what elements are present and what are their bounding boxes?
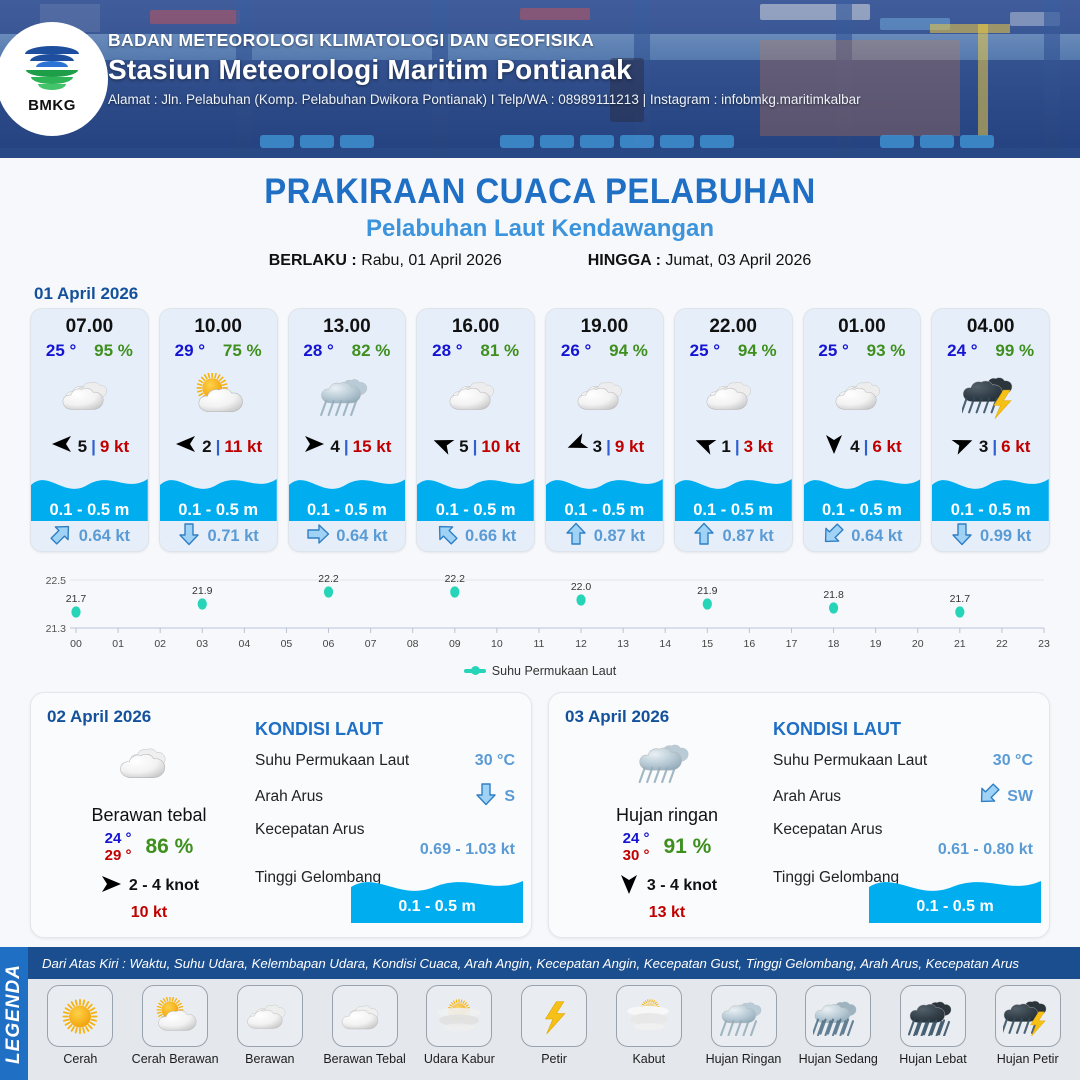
header-chairs [0,132,1080,148]
panel-temp-min: 24 ° [105,830,132,847]
bmkg-logo-text: BMKG [28,97,76,114]
wind-speed: 3 [593,437,602,457]
page-header: BMKG BADAN METEOROLOGI KLIMATOLOGI DAN G… [0,0,1080,158]
forecast-card: 22.00 25 ° 94 % [674,308,793,552]
legend-icon-udara-kabur [426,985,492,1047]
current-speed-value: 0.61 - 0.80 kt [773,841,1033,859]
svg-text:00: 00 [70,638,82,650]
wave-height: 0.1 - 0.5 m [31,501,148,520]
wave-section: 0.1 - 0.5 m 0.87 kt [675,473,792,551]
page-subtitle: Pelabuhan Laut Kendawangan [0,215,1080,243]
panel-wave-graphic: 0.1 - 0.5 m [869,867,1041,923]
legend-icon-berawan-tebal [332,985,398,1047]
current-row: 0.71 kt [160,521,277,551]
svg-text:17: 17 [786,638,798,650]
forecast-card: 13.00 28 ° 82 % [288,308,407,552]
berlaku-value: Rabu, 01 April 2026 [361,252,502,269]
gust-speed: 6 kt [872,437,901,457]
wind-separator: | [735,437,740,457]
wind-separator: | [216,437,221,457]
card-humidity: 94 % [609,341,648,361]
card-temperature: 28 ° [432,341,462,361]
panel-date: 02 April 2026 [47,707,251,727]
legend-side-text: LEGENDA [3,964,25,1064]
weather-icon-berawan-tebal [47,731,251,793]
panel-wind: 2 - 4 knot [47,873,251,900]
svg-text:21.3: 21.3 [46,623,67,635]
card-time: 22.00 [675,316,792,338]
wind-separator: | [91,437,96,457]
weather-icon-berawan [546,365,663,427]
svg-text:02: 02 [154,638,166,650]
wind-separator: | [606,437,611,457]
current-speed: 0.66 kt [465,527,516,546]
card-time: 04.00 [932,316,1049,338]
station-name: Stasiun Meteorologi Maritim Pontianak [108,54,1068,86]
wind-direction-icon [822,433,846,460]
wave-height: 0.1 - 0.5 m [675,501,792,520]
current-dir-label: Arah Arus [255,788,323,806]
card-temperature: 26 ° [561,341,591,361]
svg-text:22.0: 22.0 [571,581,592,593]
wind-direction-icon [693,433,717,460]
svg-text:21.8: 21.8 [823,589,844,601]
daily-forecast-panel: 02 April 2026 Beraw [30,692,532,938]
wave-height: 0.1 - 0.5 m [160,501,277,520]
panel-right: KONDISI LAUT Suhu Permukaan Laut 30 °C A… [769,693,1049,937]
wind-speed: 4 [850,437,859,457]
title-block: PRAKIRAAN CUACA PELABUHAN Pelabuhan Laut… [0,172,1080,270]
current-dir-value: S [504,788,515,806]
current-dir-label: Arah Arus [773,788,841,806]
legend-item: Petir [508,985,601,1066]
panel-gust: 13 kt [565,904,769,922]
card-humidity: 99 % [995,341,1034,361]
svg-text:22.2: 22.2 [318,573,339,585]
current-speed: 0.87 kt [722,527,773,546]
gust-speed: 15 kt [353,437,392,457]
bmkg-logo-mark [21,44,83,96]
current-direction-icon [977,782,1001,811]
panel-temp-range: 24 ° 30 ° [623,830,650,865]
card-humidity: 94 % [738,341,777,361]
validity-row: BERLAKU : Rabu, 01 April 2026 HINGGA : J… [0,252,1080,270]
current-row: 0.64 kt [31,521,148,551]
card-humidity: 93 % [867,341,906,361]
svg-text:01: 01 [112,638,124,650]
weather-icon-berawan [675,365,792,427]
hingga-group: HINGGA : Jumat, 03 April 2026 [588,252,812,270]
svg-text:12: 12 [575,638,587,650]
current-speed: 0.64 kt [851,527,902,546]
panel-wind: 3 - 4 knot [565,873,769,900]
panel-wind-range: 3 - 4 knot [647,877,717,895]
sst-value: 30 °C [993,752,1033,770]
hingga-label: HINGGA : [588,252,661,269]
chart-legend: Suhu Permukaan Laut [0,664,1080,678]
legend-item-label: Kabut [632,1052,665,1066]
svg-text:07: 07 [365,638,377,650]
svg-text:05: 05 [281,638,293,650]
svg-text:22.2: 22.2 [445,573,466,585]
wind-separator: | [864,437,869,457]
svg-text:16: 16 [744,638,756,650]
forecast-card: 04.00 24 ° 99 % [931,308,1050,552]
wind-speed: 1 [721,437,730,457]
current-direction-icon [950,522,974,551]
panel-temp-range: 24 ° 29 ° [105,830,132,865]
legend-icon-hujan-ringan [711,985,777,1047]
forecast-card: 01.00 25 ° 93 % [803,308,922,552]
legend-item: Udara Kabur [413,985,506,1066]
card-temperature: 24 ° [947,341,977,361]
legend-item-list: Cerah Cerah Berawan [28,979,1080,1080]
current-direction-icon [435,522,459,551]
svg-text:19: 19 [870,638,882,650]
current-row: 0.64 kt [289,521,406,551]
wind-separator: | [473,437,478,457]
forecast-card: 10.00 29 ° 75 % [159,308,278,552]
weather-icon-hujan-ringan [289,365,406,427]
berlaku-label: BERLAKU : [269,252,357,269]
svg-text:22.5: 22.5 [46,575,67,587]
current-direction-icon [49,522,73,551]
gust-speed: 10 kt [481,437,520,457]
wind-separator: | [992,437,997,457]
svg-text:21.9: 21.9 [192,585,213,597]
current-direction-icon [821,522,845,551]
organization-name: BADAN METEOROLOGI KLIMATOLOGI DAN GEOFIS… [108,30,1068,51]
current-direction-icon [177,522,201,551]
legend-item: Berawan Tebal [318,985,411,1066]
wind-speed: 3 [979,437,988,457]
svg-text:18: 18 [828,638,840,650]
wind-direction-icon [302,433,326,460]
wave-section: 0.1 - 0.5 m 0.99 kt [932,473,1049,551]
wind-speed: 5 [78,437,87,457]
sea-condition-title: KONDISI LAUT [773,719,1033,740]
svg-text:13: 13 [617,638,629,650]
wave-height: 0.1 - 0.5 m [417,501,534,520]
legend-icon-cerah [47,985,113,1047]
wind-direction-icon [431,433,455,460]
card-time: 07.00 [31,316,148,338]
current-direction-icon [474,782,498,811]
weather-icon-cerah-berawan [160,365,277,427]
card-time: 13.00 [289,316,406,338]
weather-icon-berawan [31,365,148,427]
weather-icon-hujan-petir [932,365,1049,427]
legend-item-label: Cerah [63,1052,97,1066]
legend-icon-hujan-lebat [900,985,966,1047]
sst-label: Suhu Permukaan Laut [255,752,409,770]
address-line: Alamat : Jln. Pelabuhan (Komp. Pelabuhan… [108,92,1068,107]
gust-speed: 11 kt [224,437,262,457]
legend-item: Hujan Lebat [887,985,980,1066]
current-row: 0.64 kt [804,521,921,551]
legend-icon-petir [521,985,587,1047]
legend-item-label: Hujan Sedang [799,1052,878,1066]
forecast-card: 16.00 28 ° 81 % [416,308,535,552]
sea-condition-title: KONDISI LAUT [255,719,515,740]
wave-section: 0.1 - 0.5 m 0.66 kt [417,473,534,551]
current-row: 0.87 kt [675,521,792,551]
card-time: 19.00 [546,316,663,338]
svg-text:23: 23 [1038,638,1050,650]
legend-item: Hujan Sedang [792,985,885,1066]
card-temperature: 28 ° [303,341,333,361]
legend-item-label: Hujan Petir [997,1052,1059,1066]
current-speed: 0.64 kt [336,527,387,546]
page-title: PRAKIRAAN CUACA PELABUHAN [32,172,1047,212]
panel-wave-height: 0.1 - 0.5 m [351,898,523,916]
current-dir-value: SW [1007,788,1033,806]
current-direction-icon [564,522,588,551]
legend-item-label: Cerah Berawan [132,1052,219,1066]
card-time: 01.00 [804,316,921,338]
wave-section: 0.1 - 0.5 m 0.71 kt [160,473,277,551]
wind-speed: 5 [459,437,468,457]
current-direction-icon [306,522,330,551]
wind-separator: | [344,437,349,457]
current-direction-icon [692,522,716,551]
svg-text:15: 15 [701,638,713,650]
forecast-card: 19.00 26 ° 94 % [545,308,664,552]
card-humidity: 75 % [223,341,262,361]
svg-text:03: 03 [196,638,208,650]
legend-item: Kabut [602,985,695,1066]
weather-icon-berawan [417,365,534,427]
forecast-card: 07.00 25 ° 95 % [30,308,149,552]
card-temperature: 25 ° [690,341,720,361]
panel-wind-range: 2 - 4 knot [129,877,199,895]
panel-right: KONDISI LAUT Suhu Permukaan Laut 30 °C A… [251,693,531,937]
current-speed-label: Kecepatan Arus [773,821,1033,839]
legend-item-label: Berawan Tebal [323,1052,405,1066]
wind-speed: 2 [202,437,211,457]
sst-legend-label: Suhu Permukaan Laut [492,664,616,678]
legend-item: Cerah Berawan [129,985,222,1066]
wind-direction-icon [565,433,589,460]
legend-item-label: Hujan Ringan [706,1052,782,1066]
sst-label: Suhu Permukaan Laut [773,752,927,770]
legend-item: Hujan Ringan [697,985,790,1066]
current-row: 0.87 kt [546,521,663,551]
panel-left: 02 April 2026 Beraw [31,693,251,937]
current-speed: 0.99 kt [980,527,1031,546]
panel-condition: Berawan tebal [47,805,251,826]
card-humidity: 82 % [352,341,391,361]
current-speed-value: 0.69 - 1.03 kt [255,841,515,859]
legend-item-label: Udara Kabur [424,1052,495,1066]
panel-temp-max: 29 ° [105,847,132,864]
legend-note: Dari Atas Kiri : Waktu, Suhu Udara, Kele… [28,947,1080,979]
panel-temp-min: 24 ° [623,830,650,847]
svg-text:11: 11 [534,638,545,650]
svg-text:06: 06 [323,638,335,650]
current-speed: 0.71 kt [207,527,258,546]
svg-text:08: 08 [407,638,419,650]
panel-date: 03 April 2026 [565,707,769,727]
gust-speed: 9 kt [100,437,129,457]
panel-humidity: 91 % [663,835,711,859]
current-dir-value-group: SW [977,782,1033,811]
svg-text:21: 21 [954,638,966,650]
card-time: 16.00 [417,316,534,338]
wave-height: 0.1 - 0.5 m [289,501,406,520]
wind-direction-icon [951,433,975,460]
gust-speed: 3 kt [744,437,773,457]
wind-direction-icon [174,433,198,460]
legend-item-label: Berawan [245,1052,294,1066]
svg-text:20: 20 [912,638,924,650]
legend-item-label: Hujan Lebat [899,1052,966,1066]
wind-direction-icon [617,873,641,900]
svg-text:21.7: 21.7 [66,593,87,605]
card-temperature: 29 ° [175,341,205,361]
wave-section: 0.1 - 0.5 m 0.87 kt [546,473,663,551]
forecast-day-label: 01 April 2026 [34,284,1080,304]
bmkg-logo: BMKG [0,22,108,136]
wave-height: 0.1 - 0.5 m [932,501,1049,520]
wind-direction-icon [50,433,74,460]
wind-direction-icon [99,873,123,900]
legend-icon-berawan [237,985,303,1047]
current-dir-value-group: S [474,782,515,811]
daily-forecast-panels: 02 April 2026 Beraw [0,678,1080,938]
hingga-value: Jumat, 03 April 2026 [665,252,811,269]
weather-icon-berawan [804,365,921,427]
legend-item: Berawan [223,985,316,1066]
panel-condition: Hujan ringan [565,805,769,826]
svg-text:21.9: 21.9 [697,585,718,597]
gust-speed: 9 kt [615,437,644,457]
svg-text:14: 14 [659,638,671,650]
card-temperature: 25 ° [46,341,76,361]
svg-text:21.7: 21.7 [950,593,971,605]
legend-side-title: LEGENDA [0,947,28,1080]
legend-item: Hujan Petir [981,985,1074,1066]
card-temperature: 25 ° [818,341,848,361]
wave-section: 0.1 - 0.5 m 0.64 kt [31,473,148,551]
sst-chart: 22.521.300010203040506070809101112131415… [26,568,1054,660]
panel-wave-height: 0.1 - 0.5 m [869,898,1041,916]
legend-icon-kabut [616,985,682,1047]
berlaku-group: BERLAKU : Rabu, 01 April 2026 [269,252,502,270]
wave-section: 0.1 - 0.5 m 0.64 kt [804,473,921,551]
svg-text:04: 04 [239,638,251,650]
current-speed: 0.64 kt [79,527,130,546]
svg-text:10: 10 [491,638,503,650]
panel-humidity: 86 % [145,835,193,859]
svg-text:22: 22 [996,638,1008,650]
sst-value: 30 °C [475,752,515,770]
legend-icon-hujan-sedang [805,985,871,1047]
current-speed-label: Kecepatan Arus [255,821,515,839]
card-time: 10.00 [160,316,277,338]
wind-speed: 4 [330,437,339,457]
panel-temp-max: 30 ° [623,847,650,864]
sst-legend-marker [464,669,486,673]
legend-icon-hujan-petir [995,985,1061,1047]
svg-text:09: 09 [449,638,461,650]
legend-icon-cerah-berawan [142,985,208,1047]
gust-speed: 6 kt [1001,437,1030,457]
current-row: 0.66 kt [417,521,534,551]
wave-height: 0.1 - 0.5 m [546,501,663,520]
card-humidity: 81 % [480,341,519,361]
daily-forecast-panel: 03 April 2026 [548,692,1050,938]
weather-icon-hujan-ringan [565,731,769,793]
card-humidity: 95 % [94,341,133,361]
legend-item-label: Petir [541,1052,567,1066]
hourly-forecast-row: 07.00 25 ° 95 % [0,308,1080,552]
panel-gust: 10 kt [47,904,251,922]
wave-section: 0.1 - 0.5 m 0.64 kt [289,473,406,551]
current-row: 0.99 kt [932,521,1049,551]
legend-item: Cerah [34,985,127,1066]
panel-wave-graphic: 0.1 - 0.5 m [351,867,523,923]
wave-height: 0.1 - 0.5 m [804,501,921,520]
current-speed: 0.87 kt [594,527,645,546]
panel-left: 03 April 2026 [549,693,769,937]
legend-section: LEGENDA Dari Atas Kiri : Waktu, Suhu Uda… [0,947,1080,1080]
